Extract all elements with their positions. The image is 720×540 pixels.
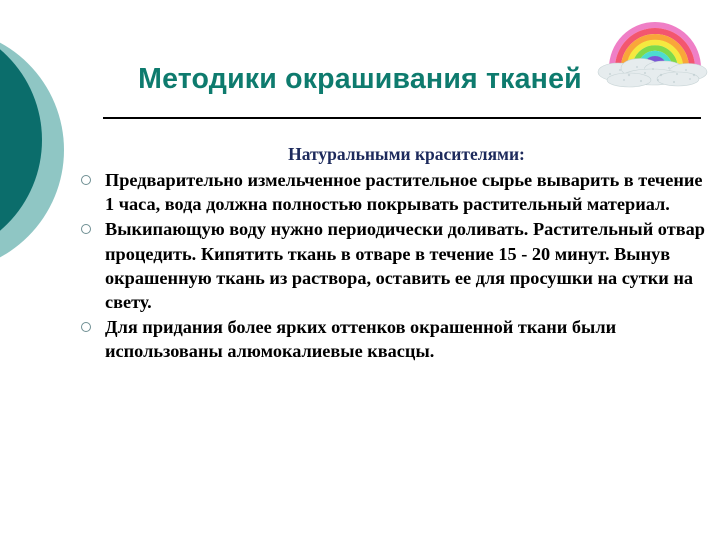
title-block: Методики окрашивания тканей [0,62,720,108]
list-item-text: Для придания более ярких оттенков окраше… [105,317,616,361]
list-item: Выкипающую воду нужно периодически долив… [78,217,708,314]
content-block: Натуральными красителями: Предварительно… [78,143,708,365]
page-title: Методики окрашивания тканей [0,62,720,96]
list-item: Для придания более ярких оттенков окраше… [78,315,708,363]
hollow-circle-bullet-icon [81,224,91,234]
title-divider-rule [103,117,701,119]
bullet-list: Предварительно измельченное растительное… [78,168,708,364]
hollow-circle-bullet-icon [81,322,91,332]
list-item: Предварительно измельченное растительное… [78,168,708,216]
presentation-slide: Методики окрашивания тканей Натуральными… [0,0,720,540]
hollow-circle-bullet-icon [81,175,91,185]
content-subtitle: Натуральными красителями: [78,143,708,165]
decorative-circle-dark [0,21,42,259]
list-item-text: Выкипающую воду нужно периодически долив… [105,219,705,312]
list-item-text: Предварительно измельченное растительное… [105,170,703,214]
